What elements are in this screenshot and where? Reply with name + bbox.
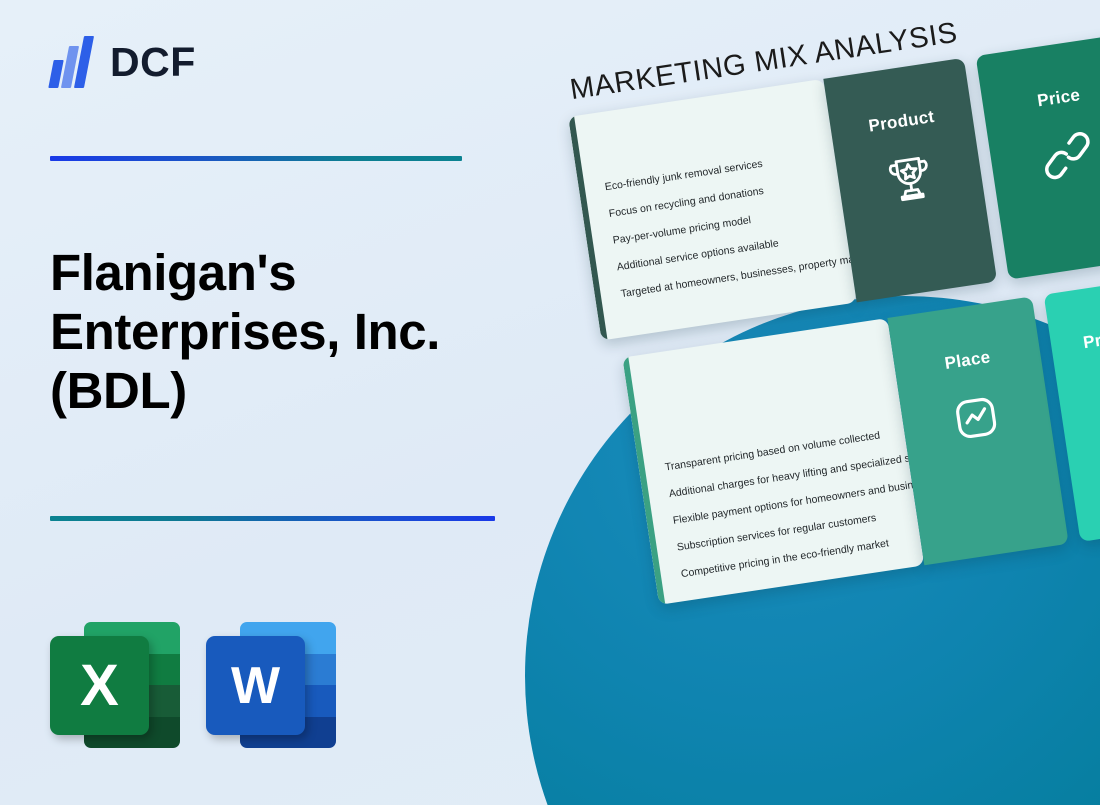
slide-canvas: DCF Flanigan's Enterprises, Inc. (BDL) X… <box>0 0 1100 805</box>
page-title: Flanigan's Enterprises, Inc. (BDL) <box>50 243 520 420</box>
trophy-icon <box>878 147 942 211</box>
word-file-icon[interactable]: W <box>206 622 336 748</box>
brand-wordmark: DCF <box>110 42 196 83</box>
product-bullets-panel: Eco-friendly junk removal services Focus… <box>568 79 857 341</box>
activity-square-icon <box>944 386 1008 450</box>
marketing-mix-graphic: MARKETING MIX ANALYSIS Eco-friendly junk… <box>505 0 1100 805</box>
brand-lockup[interactable]: DCF <box>50 36 196 88</box>
promotion-label: Promotion <box>1082 320 1100 353</box>
left-content-column: DCF Flanigan's Enterprises, Inc. (BDL) X… <box>0 0 560 805</box>
quadrant-tile-price[interactable]: Price <box>976 34 1100 280</box>
price-label: Price <box>1036 85 1082 111</box>
divider-top <box>50 156 462 161</box>
file-format-icons: X W <box>50 622 336 748</box>
place-bullet-list: Transparent pricing based on volume coll… <box>664 429 911 597</box>
tilted-board: MARKETING MIX ANALYSIS Eco-friendly junk… <box>505 0 1100 635</box>
divider-bottom <box>50 516 495 521</box>
excel-letter-tile: X <box>50 636 149 735</box>
product-label: Product <box>867 107 936 137</box>
product-bullet-list: Eco-friendly junk removal services Focus… <box>604 150 842 316</box>
logo-bar-3 <box>74 36 94 88</box>
place-label: Place <box>943 347 991 374</box>
link-icon <box>1036 124 1100 188</box>
product-panel-accent-bar <box>568 116 607 340</box>
quadrant-grid: Eco-friendly junk removal services Focus… <box>568 28 1100 611</box>
place-panel-accent-bar <box>622 357 665 605</box>
excel-file-icon[interactable]: X <box>50 622 180 748</box>
dcf-logo-icon <box>50 36 96 88</box>
place-bullets-panel: Transparent pricing based on volume coll… <box>622 318 924 605</box>
word-letter-tile: W <box>206 636 305 735</box>
